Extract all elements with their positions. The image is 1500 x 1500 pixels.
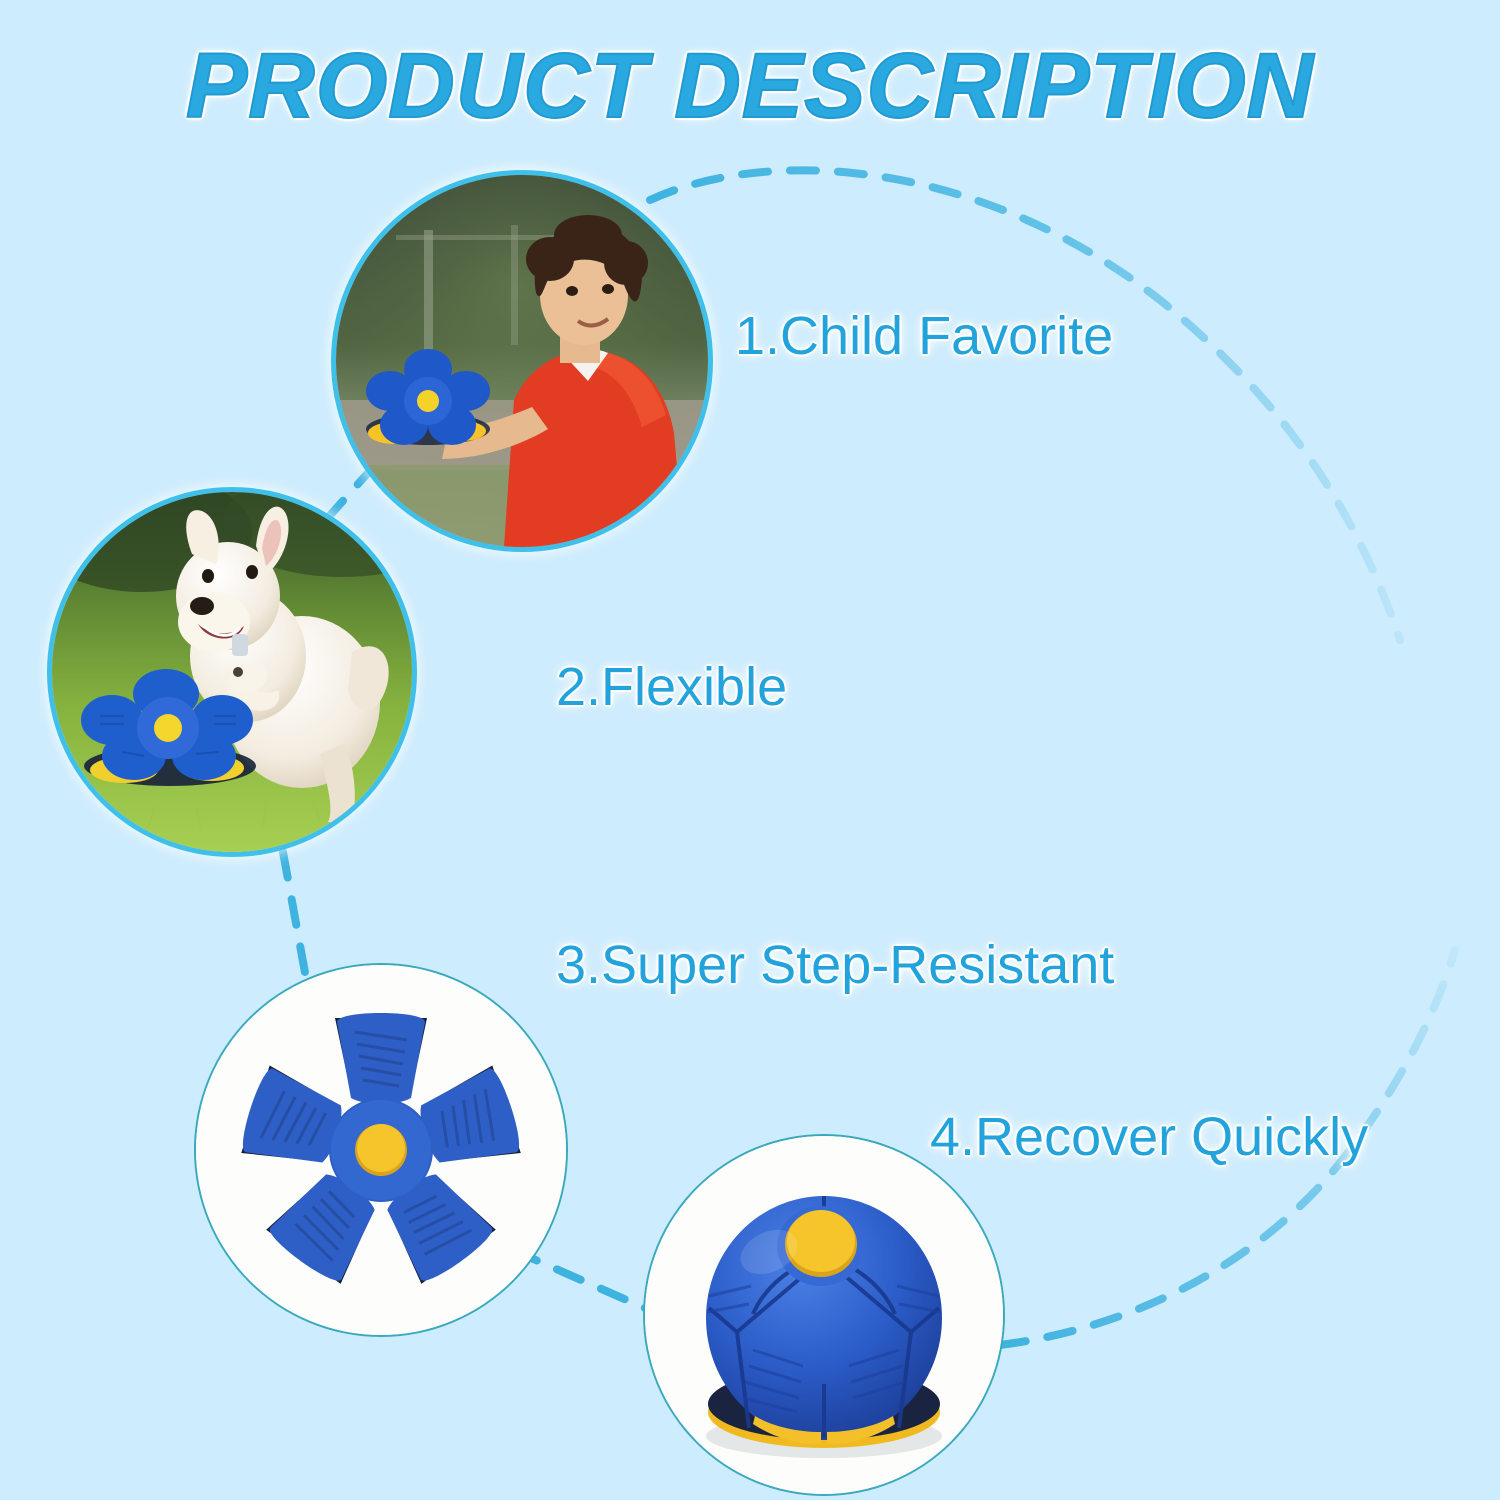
feature-label-4: 4.Recover Quickly: [930, 1106, 1368, 1168]
product-description-infographic: PRODUCT DESCRIPTION: [0, 0, 1500, 1500]
feature-photo-recover-quickly: [645, 1136, 1003, 1494]
feature-photo-child-favorite: [336, 175, 708, 547]
connector-arc-top-right: [650, 170, 1400, 640]
feature-photo-step-resistant: [196, 965, 566, 1335]
page-title: PRODUCT DESCRIPTION: [0, 34, 1500, 139]
feature-photo-flexible: [52, 492, 412, 852]
feature-label-2: 2.Flexible: [556, 656, 787, 718]
feature-label-1: 1.Child Favorite: [735, 305, 1113, 367]
connector-c2-c3: [283, 852, 310, 1000]
feature-label-3: 3.Super Step-Resistant: [556, 934, 1114, 996]
